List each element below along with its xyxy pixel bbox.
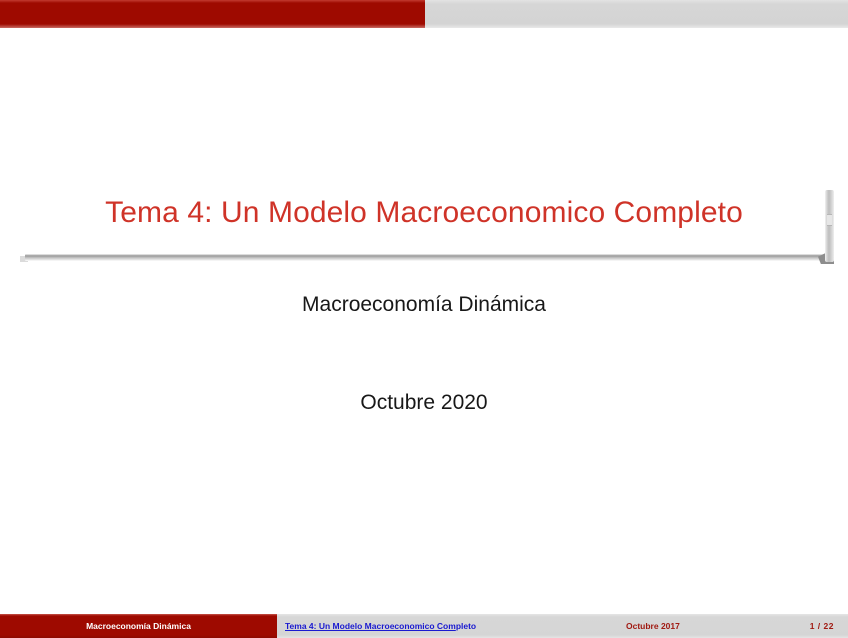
title-block: Tema 4: Un Modelo Macroeconomico Complet… [0, 192, 848, 278]
header-bar [0, 0, 848, 28]
footer-title-main: Tema 4: Un Modelo Macroeconomico Com [285, 621, 456, 631]
title-rule [25, 254, 830, 261]
footer-date: Octubre 2017 [626, 621, 680, 631]
right-edge-scroll-notch [827, 214, 832, 226]
slide-date: Octubre 2020 [0, 391, 848, 415]
presentation-slide: Tema 4: Un Modelo Macroeconomico Complet… [0, 0, 848, 638]
footer-title-tail: pleto [456, 621, 476, 631]
slide-title: Tema 4: Un Modelo Macroeconomico Complet… [0, 192, 848, 234]
footer-meta-section: Octubre 2017 1 / 22 [604, 614, 848, 638]
footer-title-section: Tema 4: Un Modelo Macroeconomico Complet… [277, 614, 604, 638]
footer-author: Macroeconomía Dinámica [0, 614, 277, 638]
header-bar-accent [0, 0, 425, 28]
footer-bar: Macroeconomía Dinámica Tema 4: Un Modelo… [0, 614, 848, 638]
header-bar-neutral [425, 0, 848, 28]
slide-subtitle: Macroeconomía Dinámica [0, 293, 848, 317]
footer-title-link[interactable]: Tema 4: Un Modelo Macroeconomico Complet… [285, 621, 476, 631]
right-edge-scroll-decoration [825, 190, 834, 262]
footer-page-number: 1 / 22 [810, 621, 834, 631]
